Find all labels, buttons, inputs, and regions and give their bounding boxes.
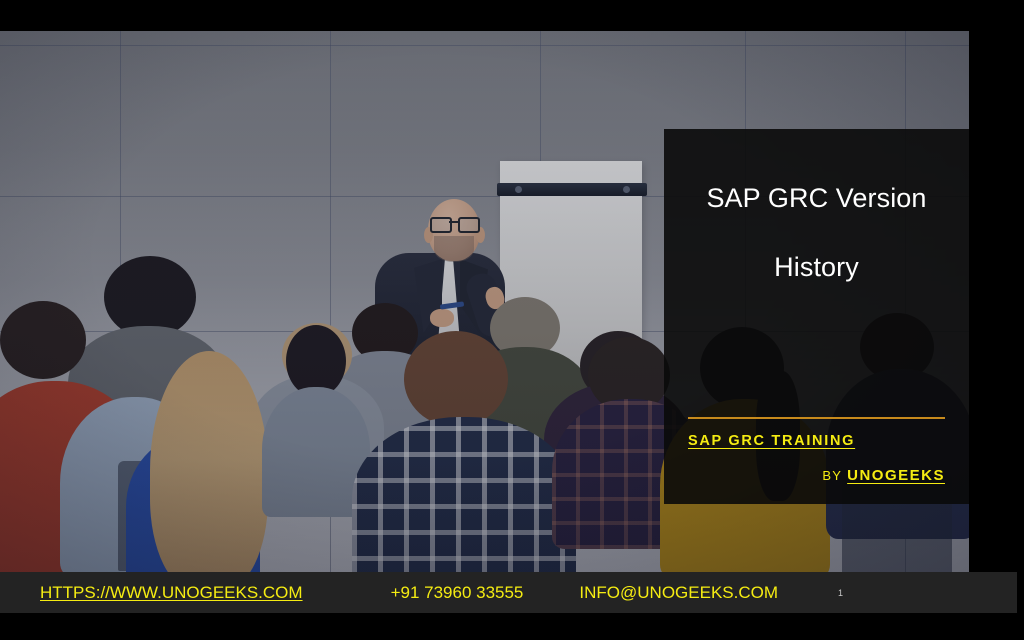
website-link[interactable]: HTTPS://WWW.UNOGEEKS.COM (40, 583, 303, 603)
byline: BYUNOGEEKS (688, 467, 945, 484)
brand-link[interactable]: UNOGEEKS (847, 467, 945, 484)
presenter-hand (430, 309, 454, 327)
presentation-slide: SAP GRC Version History SAP GRC TRAINING… (0, 0, 1024, 640)
email-address[interactable]: INFO@UNOGEEKS.COM (579, 583, 778, 603)
rail-knob-icon (623, 186, 630, 193)
wall-seam (0, 45, 969, 46)
divider (688, 417, 945, 419)
page-number: 1 (838, 588, 843, 598)
rail-knob-icon (515, 186, 522, 193)
by-word: BY (822, 468, 842, 483)
glasses-icon (430, 217, 478, 229)
title-line-1: SAP GRC Version (706, 183, 926, 213)
footer-bar: HTTPS://WWW.UNOGEEKS.COM +91 73960 33555… (0, 572, 1017, 613)
panel-footer: SAP GRC TRAINING BYUNOGEEKS (664, 417, 969, 504)
presenter-beard (434, 236, 474, 262)
phone-number[interactable]: +91 73960 33555 (391, 583, 524, 603)
page-title: SAP GRC Version History (664, 185, 969, 281)
title-line-2: History (678, 254, 955, 281)
whiteboard-rail (497, 183, 647, 196)
title-panel: SAP GRC Version History SAP GRC TRAINING… (664, 129, 969, 504)
course-name-link[interactable]: SAP GRC TRAINING (688, 433, 945, 449)
